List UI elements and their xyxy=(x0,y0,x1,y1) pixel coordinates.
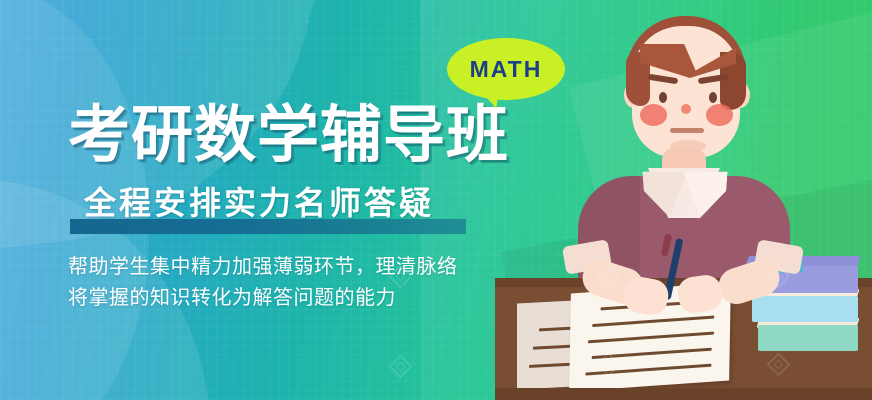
eye-left xyxy=(659,92,667,103)
description-line-1: 帮助学生集中精力加强薄弱环节，理清脉络 xyxy=(68,252,458,283)
student-illustration xyxy=(520,0,872,400)
nose xyxy=(681,104,691,114)
cheek-blush-left xyxy=(640,104,667,126)
eye-right xyxy=(709,92,717,103)
desk-front-edge xyxy=(495,388,872,400)
mouth xyxy=(670,128,704,133)
book-middle xyxy=(752,296,858,322)
course-promo-banner: 考研数学辅导班 全程安排实力名师答疑 帮助学生集中精力加强薄弱环节，理清脉络 将… xyxy=(0,0,872,400)
page-title: 考研数学辅导班 xyxy=(68,104,509,168)
description-line-2: 将掌握的知识转化为解答问题的能力 xyxy=(68,283,458,314)
subheadline-underline-bar xyxy=(70,219,466,234)
subheadline: 全程安排实力名师答疑 xyxy=(84,186,434,220)
description-block: 帮助学生集中精力加强薄弱环节，理清脉络 将掌握的知识转化为解答问题的能力 xyxy=(68,252,458,314)
cheek-blush-right xyxy=(706,104,733,126)
book-bottom xyxy=(758,325,858,351)
